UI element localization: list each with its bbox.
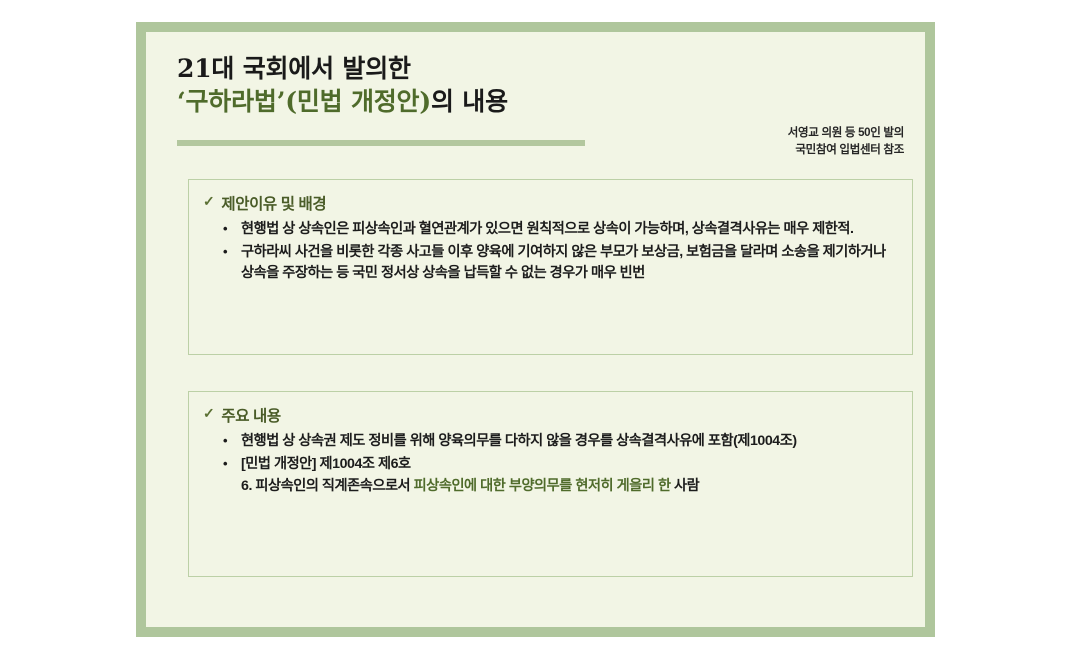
title-line-two: ‘구하라법’(민법 개정안)의 내용 — [177, 85, 877, 118]
section-heading-label: 제안이유 및 배경 — [221, 192, 326, 214]
attribution-line-one: 서영교 의원 등 50인 발의 — [788, 125, 904, 142]
section-heading-label: 주요 내용 — [221, 404, 280, 426]
slide-surface: 21대 국회에서 발의한 ‘구하라법’(민법 개정안)의 내용 서영교 의원 등… — [146, 32, 925, 627]
list-item: [민법 개정안] 제1004조 제6호 — [203, 454, 898, 476]
attribution-line-two: 국민참여 입법센터 참조 — [788, 142, 904, 159]
clause-highlight: 피상속인에 대한 부양의무를 현저히 게을리 한 — [414, 478, 671, 494]
title-accent-text: ‘구하라법’(민법 개정안) — [177, 87, 431, 116]
list-item: 구하라씨 사건을 비롯한 각종 사고들 이후 양육에 기여하지 않은 부모가 보… — [203, 242, 898, 285]
clause-text: 6. 피상속인의 직계존속으로서 피상속인에 대한 부양의무를 현저히 게을리 … — [203, 476, 898, 498]
check-icon: ✓ — [203, 192, 214, 210]
bullet-list-main-content: 현행법 상 상속권 제도 정비를 위해 양육의무를 다하지 않을 경우를 상속결… — [203, 431, 898, 475]
slide-canvas: 21대 국회에서 발의한 ‘구하라법’(민법 개정안)의 내용 서영교 의원 등… — [0, 0, 1074, 668]
section-card-main-content: ✓ 주요 내용 현행법 상 상속권 제도 정비를 위해 양육의무를 다하지 않을… — [188, 391, 913, 577]
title-plain-text: 의 내용 — [431, 87, 508, 116]
section-heading-main-content: ✓ 주요 내용 — [203, 404, 898, 426]
clause-prefix: 6. 피상속인의 직계존속으로서 — [241, 478, 414, 494]
attribution: 서영교 의원 등 50인 발의 국민참여 입법센터 참조 — [788, 125, 904, 159]
check-icon: ✓ — [203, 404, 214, 422]
page-title: 21대 국회에서 발의한 ‘구하라법’(민법 개정안)의 내용 — [177, 52, 877, 118]
slide-outer-frame: 21대 국회에서 발의한 ‘구하라법’(민법 개정안)의 내용 서영교 의원 등… — [136, 22, 935, 637]
section-card-proposal-background: ✓ 제안이유 및 배경 현행법 상 상속인은 피상속인과 혈연관계가 있으면 원… — [188, 179, 913, 355]
list-item: 현행법 상 상속인은 피상속인과 혈연관계가 있으면 원칙적으로 상속이 가능하… — [203, 219, 898, 241]
bullet-list-proposal-background: 현행법 상 상속인은 피상속인과 혈연관계가 있으면 원칙적으로 상속이 가능하… — [203, 219, 898, 285]
section-heading-proposal-background: ✓ 제안이유 및 배경 — [203, 192, 898, 214]
list-item: 현행법 상 상속권 제도 정비를 위해 양육의무를 다하지 않을 경우를 상속결… — [203, 431, 898, 453]
title-divider — [177, 140, 585, 146]
clause-suffix: 사람 — [671, 478, 700, 494]
title-line-one: 21대 국회에서 발의한 — [177, 52, 877, 85]
